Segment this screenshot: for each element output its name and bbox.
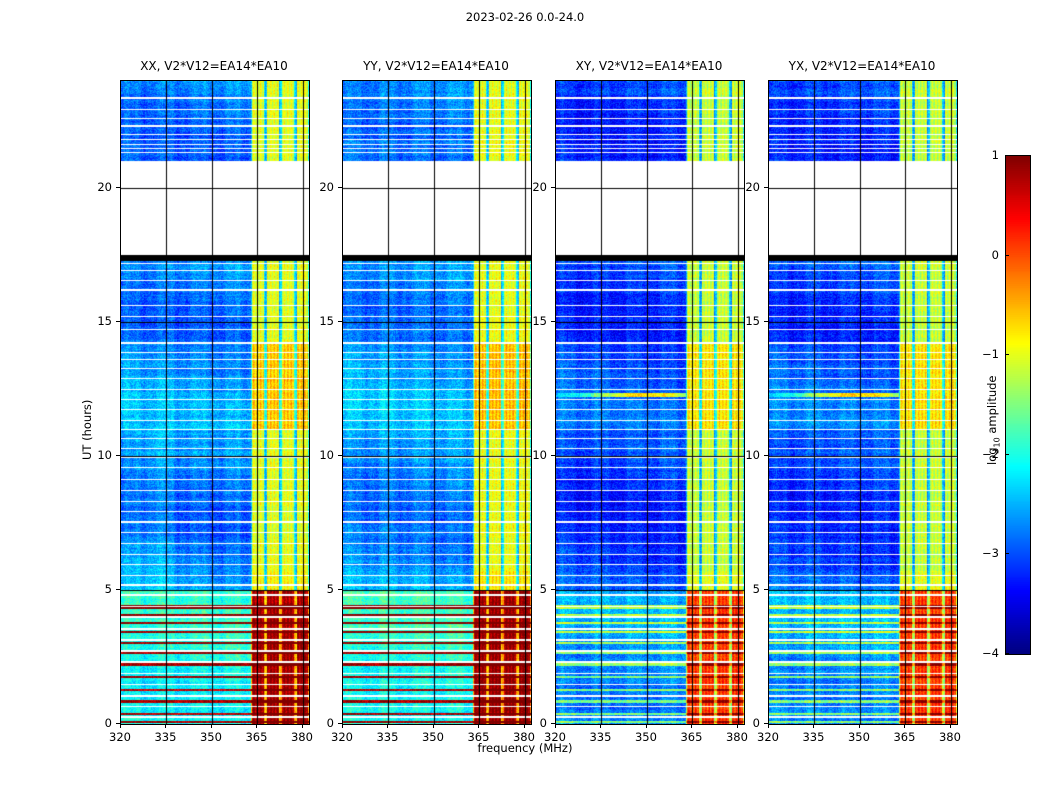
y-tick-label: 15 xyxy=(726,314,760,328)
x-tickmark xyxy=(478,724,479,728)
axes-yy[interactable] xyxy=(342,80,532,725)
y-tickmark xyxy=(116,321,120,322)
x-tickmark xyxy=(813,724,814,728)
y-tick-label: 10 xyxy=(300,448,334,462)
x-tickmark xyxy=(950,724,951,728)
colorbar-label: log10 amplitude xyxy=(985,376,1001,466)
axes-xy[interactable] xyxy=(555,80,745,725)
x-tick-label: 335 xyxy=(802,730,824,744)
colorbar-tickmark xyxy=(1005,354,1009,355)
waterfall-image-yx xyxy=(769,81,957,724)
x-tickmark xyxy=(387,724,388,728)
y-tickmark xyxy=(338,723,342,724)
colorbar: −4−3−2−101 log10 amplitude xyxy=(1005,155,1031,655)
colorbar-tickmark xyxy=(1005,454,1009,455)
x-tick-label: 380 xyxy=(726,730,748,744)
y-tick-label: 20 xyxy=(726,180,760,194)
x-tick-label: 335 xyxy=(154,730,176,744)
y-tick-label: 20 xyxy=(513,180,547,194)
colorbar-tick-label: −3 xyxy=(969,546,999,560)
x-tick-label: 380 xyxy=(291,730,313,744)
axes-yx[interactable] xyxy=(768,80,958,725)
y-tick-label: 0 xyxy=(78,716,112,730)
y-tick-label: 5 xyxy=(726,582,760,596)
y-tickmark xyxy=(338,455,342,456)
y-tickmark xyxy=(338,187,342,188)
y-tick-label: 10 xyxy=(513,448,547,462)
x-tickmark xyxy=(768,724,769,728)
y-tick-label: 0 xyxy=(300,716,334,730)
y-tickmark xyxy=(338,321,342,322)
x-tick-label: 320 xyxy=(109,730,131,744)
panel-title-yy: YY, V2*V12=EA14*EA10 xyxy=(342,59,530,73)
x-tickmark xyxy=(120,724,121,728)
x-tick-label: 365 xyxy=(680,730,702,744)
x-tickmark xyxy=(600,724,601,728)
y-tickmark xyxy=(116,723,120,724)
panel-title-xy: XY, V2*V12=EA14*EA10 xyxy=(555,59,743,73)
y-tick-label: 15 xyxy=(513,314,547,328)
y-tick-label: 5 xyxy=(513,582,547,596)
panel-title-xx: XX, V2*V12=EA14*EA10 xyxy=(120,59,308,73)
colorbar-gradient xyxy=(1005,155,1031,655)
x-tickmark xyxy=(691,724,692,728)
x-tick-label: 365 xyxy=(893,730,915,744)
x-tickmark xyxy=(555,724,556,728)
y-tick-label: 20 xyxy=(78,180,112,194)
y-tick-label: 15 xyxy=(78,314,112,328)
y-tick-label: 0 xyxy=(513,716,547,730)
y-tickmark xyxy=(551,321,555,322)
y-tickmark xyxy=(764,321,768,322)
x-tickmark xyxy=(904,724,905,728)
figure-canvas: 2023-02-26 0.0-24.0 XX, V2*V12=EA14*EA10… xyxy=(0,0,1050,800)
x-tickmark xyxy=(165,724,166,728)
y-tickmark xyxy=(764,455,768,456)
x-tickmark xyxy=(859,724,860,728)
x-axis-label: frequency (MHz) xyxy=(385,741,665,755)
colorbar-tickmark xyxy=(1005,653,1009,654)
waterfall-image-yy xyxy=(343,81,531,724)
x-tick-label: 380 xyxy=(939,730,961,744)
y-tickmark xyxy=(764,187,768,188)
y-tickmark xyxy=(551,187,555,188)
x-tick-label: 350 xyxy=(848,730,870,744)
y-tickmark xyxy=(551,455,555,456)
y-tick-label: 15 xyxy=(300,314,334,328)
colorbar-label-tail: amplitude xyxy=(985,376,999,438)
waterfall-image-xy xyxy=(556,81,744,724)
y-tickmark xyxy=(116,187,120,188)
y-tickmark xyxy=(338,589,342,590)
waterfall-image-xx xyxy=(121,81,309,724)
x-tickmark xyxy=(433,724,434,728)
y-tick-label: 10 xyxy=(726,448,760,462)
colorbar-tickmark xyxy=(1005,553,1009,554)
colorbar-tick-label: 0 xyxy=(969,248,999,262)
colorbar-tick-label: 1 xyxy=(969,148,999,162)
y-tick-label: 5 xyxy=(78,582,112,596)
x-tickmark xyxy=(342,724,343,728)
y-tickmark xyxy=(764,723,768,724)
colorbar-tick-label: −4 xyxy=(969,646,999,660)
colorbar-label-sub: 10 xyxy=(992,437,1001,447)
x-tick-label: 365 xyxy=(245,730,267,744)
panel-title-yx: YX, V2*V12=EA14*EA10 xyxy=(768,59,956,73)
y-tick-label: 20 xyxy=(300,180,334,194)
axes-xx[interactable] xyxy=(120,80,310,725)
y-tick-label: 0 xyxy=(726,716,760,730)
x-tick-label: 350 xyxy=(200,730,222,744)
y-tickmark xyxy=(116,589,120,590)
panel-xx: XX, V2*V12=EA14*EA1032033535036538005101… xyxy=(120,80,308,723)
figure-suptitle: 2023-02-26 0.0-24.0 xyxy=(0,10,1050,24)
panel-yx: YX, V2*V12=EA14*EA1032033535036538005101… xyxy=(768,80,956,723)
x-tick-label: 320 xyxy=(757,730,779,744)
colorbar-tickmark xyxy=(1005,155,1009,156)
y-tick-label: 5 xyxy=(300,582,334,596)
colorbar-tickmark xyxy=(1005,255,1009,256)
x-tickmark xyxy=(646,724,647,728)
y-tickmark xyxy=(116,455,120,456)
y-tickmark xyxy=(764,589,768,590)
y-tickmark xyxy=(551,589,555,590)
colorbar-tick-label: −1 xyxy=(969,347,999,361)
panel-yy: YY, V2*V12=EA14*EA1032033535036538005101… xyxy=(342,80,530,723)
x-tick-label: 320 xyxy=(331,730,353,744)
colorbar-label-main: log xyxy=(985,447,999,465)
panel-xy: XY, V2*V12=EA14*EA1032033535036538005101… xyxy=(555,80,743,723)
y-tickmark xyxy=(551,723,555,724)
x-tickmark xyxy=(256,724,257,728)
x-tickmark xyxy=(211,724,212,728)
y-axis-label: UT (hours) xyxy=(80,400,94,460)
